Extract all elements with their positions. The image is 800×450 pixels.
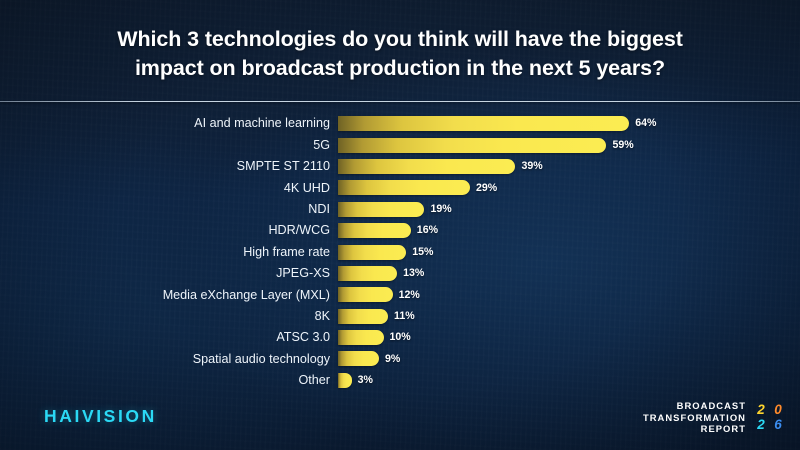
bar-chart: AI and machine learning64%5G59%SMPTE ST …: [0, 113, 800, 398]
chart-row: JPEG-XS13%: [0, 263, 800, 284]
bar: [338, 330, 384, 345]
chart-row: Spatial audio technology9%: [0, 348, 800, 369]
bar-track: 59%: [338, 134, 800, 155]
chart-row: NDI19%: [0, 199, 800, 220]
bar: [338, 245, 406, 260]
chart-row: Other3%: [0, 370, 800, 391]
bar: [338, 116, 629, 131]
bar: [338, 202, 424, 217]
bar-category-label: High frame rate: [0, 246, 338, 259]
bar-value-label: 39%: [521, 161, 542, 172]
bar-category-label: Other: [0, 374, 338, 387]
report-title-line-3: REPORT: [643, 423, 746, 435]
bar-value-label: 11%: [394, 311, 415, 322]
page-title-line-1: Which 3 technologies do you think will h…: [117, 25, 683, 54]
page-title-line-2: impact on broadcast production in the ne…: [135, 54, 665, 83]
bar: [338, 223, 411, 238]
year-2026-badge: 2 0 2 6: [753, 403, 786, 432]
bar-category-label: 5G: [0, 139, 338, 152]
bar-category-label: 8K: [0, 310, 338, 323]
bar-value-label: 29%: [476, 183, 497, 194]
haivision-logo: HAIVISION: [44, 406, 157, 427]
bar: [338, 351, 379, 366]
bar-track: 13%: [338, 263, 800, 284]
bar-category-label: 4K UHD: [0, 182, 338, 195]
year-digit-0-top: 0: [770, 403, 786, 417]
chart-row: Media eXchange Layer (MXL)12%: [0, 284, 800, 305]
chart-row: HDR/WCG16%: [0, 220, 800, 241]
bar-category-label: Spatial audio technology: [0, 353, 338, 366]
bar-value-label: 9%: [385, 354, 400, 365]
bar-track: 3%: [338, 370, 800, 391]
bar: [338, 138, 606, 153]
bar-category-label: SMPTE ST 2110: [0, 160, 338, 173]
bar-category-label: AI and machine learning: [0, 117, 338, 130]
bar-track: 19%: [338, 199, 800, 220]
chart-row: ATSC 3.010%: [0, 327, 800, 348]
broadcast-transformation-report-logo: BROADCAST TRANSFORMATION REPORT 2 0 2 6: [643, 400, 786, 435]
bar-value-label: 59%: [612, 140, 633, 151]
bar-value-label: 13%: [403, 268, 424, 279]
bar-value-label: 12%: [399, 290, 420, 301]
year-digit-2-top: 2: [753, 403, 769, 417]
bar-track: 64%: [338, 113, 800, 134]
bar-category-label: ATSC 3.0: [0, 331, 338, 344]
bar-category-label: NDI: [0, 203, 338, 216]
bar-value-label: 19%: [430, 204, 451, 215]
year-digit-6-bottom: 6: [770, 418, 786, 432]
bar-category-label: JPEG-XS: [0, 267, 338, 280]
bar: [338, 287, 393, 302]
year-digit-2-bottom: 2: [753, 418, 769, 432]
bar-category-label: HDR/WCG: [0, 224, 338, 237]
bar-category-label: Media eXchange Layer (MXL): [0, 289, 338, 302]
bar-value-label: 15%: [412, 247, 433, 258]
bar-track: 29%: [338, 177, 800, 198]
header-divider: [0, 101, 800, 102]
bar-track: 12%: [338, 284, 800, 305]
chart-row: AI and machine learning64%: [0, 113, 800, 134]
bar-value-label: 16%: [417, 225, 438, 236]
chart-row: 8K11%: [0, 306, 800, 327]
bar-value-label: 3%: [358, 375, 373, 386]
bar-track: 10%: [338, 327, 800, 348]
footer: HAIVISION BROADCAST TRANSFORMATION REPOR…: [0, 398, 800, 450]
chart-row: High frame rate15%: [0, 241, 800, 262]
bar: [338, 373, 352, 388]
chart-row: 4K UHD29%: [0, 177, 800, 198]
bar: [338, 309, 388, 324]
chart-row: SMPTE ST 211039%: [0, 156, 800, 177]
report-title: BROADCAST TRANSFORMATION REPORT: [643, 400, 746, 435]
bar-track: 15%: [338, 241, 800, 262]
bar-track: 39%: [338, 156, 800, 177]
bar: [338, 159, 515, 174]
bar: [338, 266, 397, 281]
chart-row: 5G59%: [0, 134, 800, 155]
bar-track: 16%: [338, 220, 800, 241]
bar-value-label: 10%: [390, 332, 411, 343]
bar-track: 11%: [338, 306, 800, 327]
bar-track: 9%: [338, 348, 800, 369]
report-title-line-1: BROADCAST: [643, 400, 746, 412]
header: Which 3 technologies do you think will h…: [0, 0, 800, 102]
bar-value-label: 64%: [635, 118, 656, 129]
report-title-line-2: TRANSFORMATION: [643, 412, 746, 424]
bar: [338, 180, 470, 195]
